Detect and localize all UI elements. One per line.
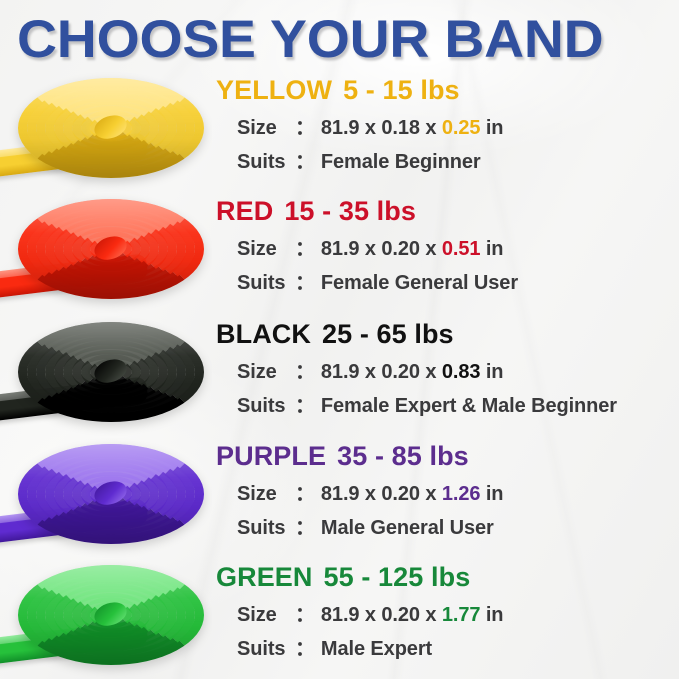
band-size-prefix-black: 81.9 x 0.20 x xyxy=(321,361,442,383)
poster-canvas: CHOOSE YOUR BAND YELLOW5 - 15 lbs Size：8… xyxy=(0,0,679,679)
band-name-purple: PURPLE xyxy=(216,441,326,471)
size-colon: ： xyxy=(295,604,315,626)
band-coil-black xyxy=(18,322,204,422)
band-suits-red: Female General User xyxy=(321,272,518,294)
band-image-black xyxy=(0,316,212,436)
band-row-green: GREEN55 - 125 lbs Size：81.9 x 0.20 x 1.7… xyxy=(0,559,679,679)
band-coil-yellow xyxy=(18,78,204,178)
band-heading-black: BLACK25 - 65 lbs xyxy=(216,319,454,350)
band-row-black: BLACK25 - 65 lbs Size：81.9 x 0.20 x 0.83… xyxy=(0,316,679,436)
band-thickness-red: 0.51 xyxy=(442,238,481,260)
band-suits-yellow: Female Beginner xyxy=(321,151,481,173)
band-name-yellow: YELLOW xyxy=(216,75,332,105)
size-label: Size xyxy=(237,483,295,506)
band-size-prefix-green: 81.9 x 0.20 x xyxy=(321,604,442,626)
band-heading-yellow: YELLOW5 - 15 lbs xyxy=(216,75,460,106)
band-size-line-yellow: Size：81.9 x 0.18 x 0.25 in xyxy=(237,111,503,140)
band-suits-black: Female Expert & Male Beginner xyxy=(321,395,617,417)
suits-colon: ： xyxy=(295,151,315,173)
size-unit: in xyxy=(486,361,504,383)
band-name-green: GREEN xyxy=(216,562,313,592)
band-info-black: BLACK25 - 65 lbs Size：81.9 x 0.20 x 0.83… xyxy=(212,316,679,436)
band-row-red: RED15 - 35 lbs Size：81.9 x 0.20 x 0.51 i… xyxy=(0,193,679,313)
band-heading-red: RED15 - 35 lbs xyxy=(216,196,416,227)
size-unit: in xyxy=(486,604,504,626)
suits-label: Suits xyxy=(237,395,295,418)
band-suits-line-yellow: Suits：Female Beginner xyxy=(237,145,481,174)
band-size-prefix-red: 81.9 x 0.20 x xyxy=(321,238,442,260)
band-row-purple: PURPLE35 - 85 lbs Size：81.9 x 0.20 x 1.2… xyxy=(0,438,679,558)
band-size-line-purple: Size：81.9 x 0.20 x 1.26 in xyxy=(237,477,503,506)
band-coil-red xyxy=(18,199,204,299)
band-name-red: RED xyxy=(216,196,273,226)
band-thickness-purple: 1.26 xyxy=(442,483,481,505)
band-thickness-black: 0.83 xyxy=(442,361,481,383)
suits-colon: ： xyxy=(295,272,315,294)
band-suits-green: Male Expert xyxy=(321,638,432,660)
band-resistance-black: 25 - 65 lbs xyxy=(322,319,454,349)
suits-colon: ： xyxy=(295,395,315,417)
band-info-red: RED15 - 35 lbs Size：81.9 x 0.20 x 0.51 i… xyxy=(212,193,679,313)
band-resistance-green: 55 - 125 lbs xyxy=(324,562,471,592)
band-size-prefix-yellow: 81.9 x 0.18 x xyxy=(321,117,442,139)
band-suits-line-black: Suits：Female Expert & Male Beginner xyxy=(237,389,617,418)
band-thickness-yellow: 0.25 xyxy=(442,117,481,139)
size-label: Size xyxy=(237,361,295,384)
suits-label: Suits xyxy=(237,272,295,295)
band-suits-purple: Male General User xyxy=(321,517,494,539)
band-suits-line-purple: Suits：Male General User xyxy=(237,511,494,540)
band-heading-green: GREEN55 - 125 lbs xyxy=(216,562,470,593)
band-resistance-yellow: 5 - 15 lbs xyxy=(343,75,460,105)
suits-label: Suits xyxy=(237,517,295,540)
size-unit: in xyxy=(486,483,504,505)
band-size-line-green: Size：81.9 x 0.20 x 1.77 in xyxy=(237,598,503,627)
band-image-yellow xyxy=(0,72,212,192)
band-size-prefix-purple: 81.9 x 0.20 x xyxy=(321,483,442,505)
size-colon: ： xyxy=(295,483,315,505)
band-info-yellow: YELLOW5 - 15 lbs Size：81.9 x 0.18 x 0.25… xyxy=(212,72,679,192)
suits-colon: ： xyxy=(295,517,315,539)
page-title: CHOOSE YOUR BAND xyxy=(17,11,679,69)
band-resistance-red: 15 - 35 lbs xyxy=(284,196,416,226)
band-coil-green xyxy=(18,565,204,665)
band-image-red xyxy=(0,193,212,313)
size-label: Size xyxy=(237,238,295,261)
suits-label: Suits xyxy=(237,151,295,174)
size-label: Size xyxy=(237,117,295,140)
band-coil-purple xyxy=(18,444,204,544)
size-colon: ： xyxy=(295,361,315,383)
band-suits-line-red: Suits：Female General User xyxy=(237,266,518,295)
band-size-line-black: Size：81.9 x 0.20 x 0.83 in xyxy=(237,355,503,384)
band-suits-line-green: Suits：Male Expert xyxy=(237,632,432,661)
size-label: Size xyxy=(237,604,295,627)
size-colon: ： xyxy=(295,238,315,260)
band-size-line-red: Size：81.9 x 0.20 x 0.51 in xyxy=(237,232,503,261)
band-row-yellow: YELLOW5 - 15 lbs Size：81.9 x 0.18 x 0.25… xyxy=(0,72,679,192)
band-heading-purple: PURPLE35 - 85 lbs xyxy=(216,441,469,472)
size-unit: in xyxy=(486,238,504,260)
band-image-purple xyxy=(0,438,212,558)
band-resistance-purple: 35 - 85 lbs xyxy=(337,441,469,471)
band-name-black: BLACK xyxy=(216,319,311,349)
band-info-purple: PURPLE35 - 85 lbs Size：81.9 x 0.20 x 1.2… xyxy=(212,438,679,558)
suits-colon: ： xyxy=(295,638,315,660)
size-unit: in xyxy=(486,117,504,139)
band-thickness-green: 1.77 xyxy=(442,604,481,626)
size-colon: ： xyxy=(295,117,315,139)
band-info-green: GREEN55 - 125 lbs Size：81.9 x 0.20 x 1.7… xyxy=(212,559,679,679)
suits-label: Suits xyxy=(237,638,295,661)
band-image-green xyxy=(0,559,212,679)
